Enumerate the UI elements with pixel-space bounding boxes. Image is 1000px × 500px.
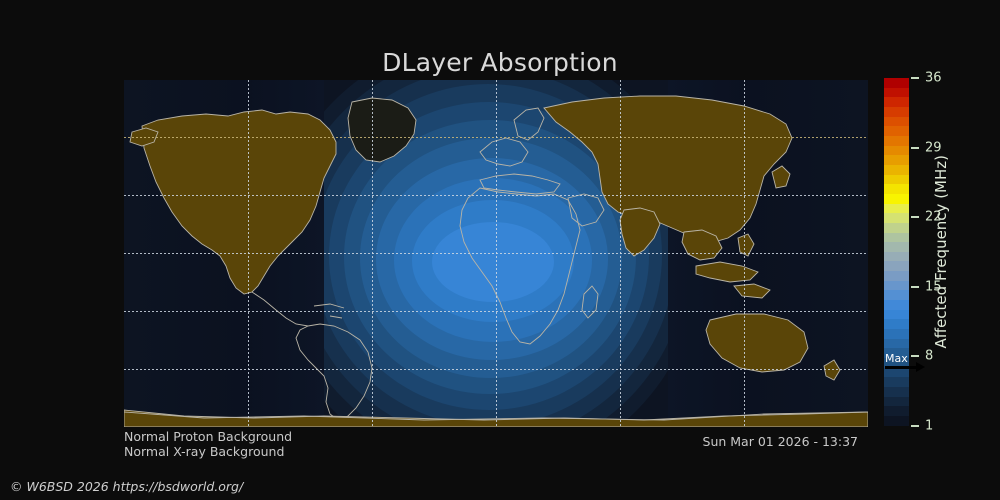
- coast-scandinavia: [514, 108, 544, 140]
- map-clip: [124, 80, 868, 427]
- page-title: DLayer Absorption: [0, 48, 1000, 77]
- colorbar-tick: [911, 425, 919, 427]
- colorbar-segment: [884, 126, 909, 136]
- colorbar-segment: [884, 194, 909, 204]
- coast-africa: [460, 188, 580, 344]
- colorbar-axis-title-text: Affected Frequency (MHz): [932, 155, 950, 349]
- colorbar-segment: [884, 107, 909, 117]
- land-greenland: [348, 98, 416, 162]
- land-australia: [706, 314, 808, 372]
- timestamp: Sun Mar 01 2026 - 13:37: [0, 434, 858, 449]
- colorbar-segment: [884, 271, 909, 281]
- colorbar-segment: [884, 416, 909, 426]
- colorbar-segment: [884, 233, 909, 243]
- colorbar-segment: [884, 223, 909, 233]
- colorbar-segment: [884, 78, 909, 88]
- colorbar-segment: [884, 406, 909, 416]
- coast-madagascar: [582, 286, 598, 318]
- colorbar-segment: [884, 146, 909, 156]
- gridline-lon-m60: [372, 80, 373, 427]
- max-marker-label: Max: [885, 352, 908, 365]
- colorbar-segment: [884, 397, 909, 407]
- land-japan: [772, 166, 790, 188]
- land-new-zealand: [824, 360, 840, 380]
- colorbar-tick: [911, 216, 919, 218]
- colorbar-segment: [884, 88, 909, 98]
- coast-central-america: [252, 292, 308, 326]
- colorbar-segment: [884, 290, 909, 300]
- gridline-lon-120: [744, 80, 745, 427]
- land-india: [620, 208, 660, 256]
- colorbar-segment: [884, 281, 909, 291]
- colorbar-tick: [911, 286, 919, 288]
- colorbar-segment: [884, 97, 909, 107]
- max-marker-arrow-shaft: [885, 366, 919, 369]
- colorbar-segment: [884, 204, 909, 214]
- gridline-lon-m120: [248, 80, 249, 427]
- colorbar-segment: [884, 117, 909, 127]
- land-indonesia: [696, 262, 770, 298]
- colorbar-segment: [884, 319, 909, 329]
- colorbar-segment: [884, 377, 909, 387]
- colorbar-segment: [884, 300, 909, 310]
- world-map-plot: [124, 80, 868, 427]
- colorbar-segment: [884, 136, 909, 146]
- colorbar-segment: [884, 175, 909, 185]
- max-marker-arrow-head: [916, 362, 925, 372]
- colorbar-segment: [884, 184, 909, 194]
- colorbar-segment: [884, 329, 909, 339]
- gridline-lon-60: [620, 80, 621, 427]
- colorbar-segment: [884, 252, 909, 262]
- colorbar-segment: [884, 387, 909, 397]
- colorbar-max-marker: Max: [884, 353, 930, 375]
- colorbar-tick: [911, 77, 919, 79]
- coast-europe: [480, 138, 528, 166]
- colorbar-segment: [884, 165, 909, 175]
- dlayer-absorption-figure: DLayer Absorption: [0, 0, 1000, 500]
- colorbar-segment: [884, 310, 909, 320]
- coast-south-america: [296, 324, 372, 420]
- colorbar-segment: [884, 261, 909, 271]
- colorbar-segment: [884, 339, 909, 349]
- colorbar-segment: [884, 242, 909, 252]
- land-asia: [544, 96, 792, 242]
- colorbar-axis-title: Affected Frequency (MHz): [929, 78, 953, 426]
- gridline-lon-0: [496, 80, 497, 427]
- colorbar-tick: [911, 147, 919, 149]
- colorbar-segment: [884, 213, 909, 223]
- credit-line: © W6BSD 2026 https://bsdworld.org/: [10, 479, 243, 494]
- colorbar-segment: [884, 155, 909, 165]
